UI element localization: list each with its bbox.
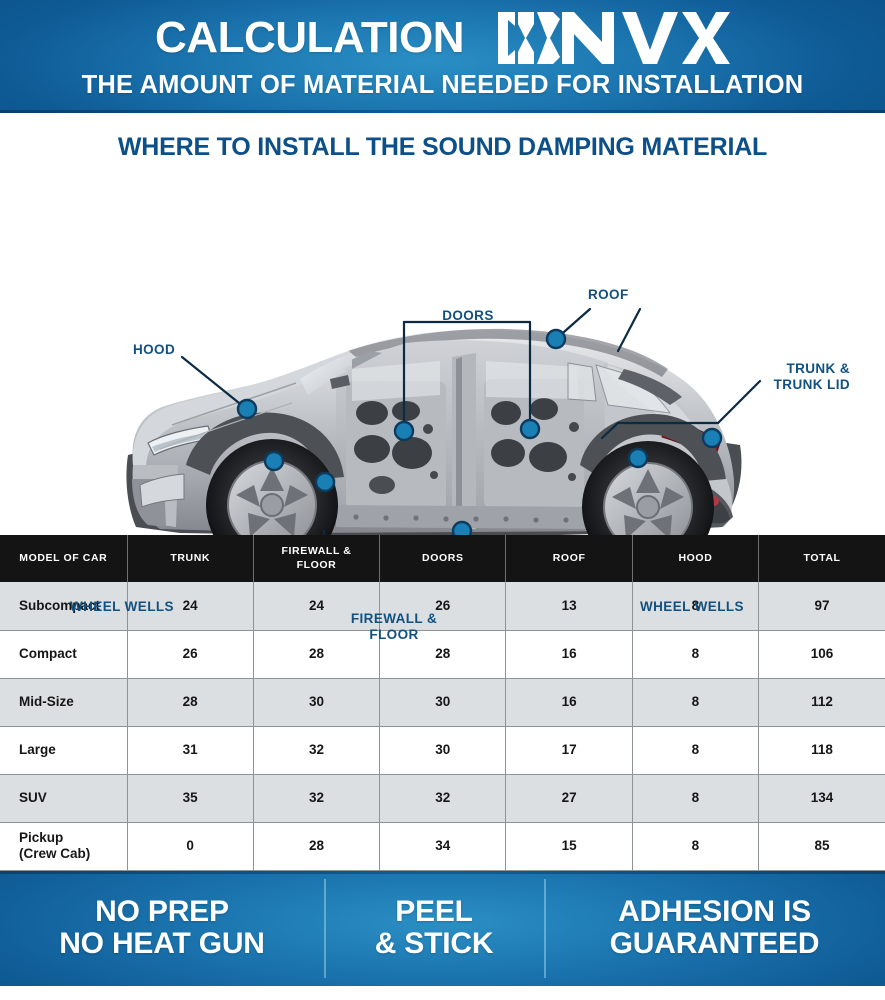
cell-doors: 32	[380, 774, 506, 822]
nvx-logo	[498, 12, 730, 64]
cell-firewall: 32	[253, 774, 379, 822]
col-header-total: TOTAL	[759, 535, 885, 582]
cell-model: Mid-Size	[0, 678, 127, 726]
cell-doors: 34	[380, 822, 506, 870]
cell-doors: 30	[380, 678, 506, 726]
cell-hood: 8	[632, 774, 758, 822]
col-header-roof: ROOF	[506, 535, 632, 582]
x-mark-icon	[498, 12, 560, 64]
calculation-table: MODEL OF CAR TRUNK FIREWALL & FLOOR DOOR…	[0, 535, 885, 871]
cell-trunk: 35	[127, 774, 253, 822]
cell-model: Compact	[0, 630, 127, 678]
callout-label-firewall: FIREWALL & FLOOR	[318, 611, 470, 643]
cell-total: 134	[759, 774, 885, 822]
cell-roof: 16	[506, 630, 632, 678]
calculation-table-wrapper: MODEL OF CAR TRUNK FIREWALL & FLOOR DOOR…	[0, 535, 885, 871]
cell-trunk: 28	[127, 678, 253, 726]
cell-model: Large	[0, 726, 127, 774]
cell-roof: 27	[506, 774, 632, 822]
cell-trunk: 31	[127, 726, 253, 774]
col-header-hood: HOOD	[632, 535, 758, 582]
cell-firewall: 28	[253, 822, 379, 870]
cell-hood: 8	[632, 630, 758, 678]
car-illustration: HOOD DOORS ROOF TRUNK & TRUNK LID WHEEL …	[0, 113, 885, 535]
col-header-model: MODEL OF CAR	[0, 535, 127, 582]
callout-label-roof: ROOF	[588, 287, 629, 303]
cell-total: 97	[759, 582, 885, 630]
cell-trunk: 26	[127, 630, 253, 678]
col-header-doors: DOORS	[380, 535, 506, 582]
col-header-trunk: TRUNK	[127, 535, 253, 582]
cell-hood: 8	[632, 822, 758, 870]
table-row: Large 31 32 30 17 8 118	[0, 726, 885, 774]
col-header-firewall: FIREWALL & FLOOR	[253, 535, 379, 582]
cell-hood: 8	[632, 678, 758, 726]
cell-hood: 8	[632, 726, 758, 774]
table-header-row: MODEL OF CAR TRUNK FIREWALL & FLOOR DOOR…	[0, 535, 885, 582]
header-banner: CALCULATION	[0, 0, 885, 113]
cell-model: Pickup (Crew Cab)	[0, 822, 127, 870]
cell-roof: 16	[506, 678, 632, 726]
cell-total: 112	[759, 678, 885, 726]
cell-doors: 30	[380, 726, 506, 774]
callout-label-hood: HOOD	[133, 342, 175, 358]
callout-label-trunk: TRUNK & TRUNK LID	[700, 361, 850, 393]
footer-item-peel: PEEL & STICK	[324, 871, 544, 986]
cell-total: 85	[759, 822, 885, 870]
callout-label-wheel-wells-rear: WHEEL WELLS	[640, 599, 744, 615]
footer-banner: NO PREP NO HEAT GUN PEEL & STICK ADHESIO…	[0, 871, 885, 986]
cell-firewall: 32	[253, 726, 379, 774]
cell-total: 118	[759, 726, 885, 774]
table-row: Mid-Size 28 30 30 16 8 112	[0, 678, 885, 726]
nvx-wordmark	[562, 12, 730, 64]
cell-roof: 17	[506, 726, 632, 774]
callout-label-wheel-wells-front: WHEEL WELLS	[70, 599, 174, 615]
infographic-page: CALCULATION	[0, 0, 885, 1000]
cell-roof: 13	[506, 582, 632, 630]
cell-model: SUV	[0, 774, 127, 822]
header-top-row: CALCULATION	[0, 0, 885, 64]
diagram-section: WHERE TO INSTALL THE SOUND DAMPING MATER…	[0, 113, 885, 535]
page-title: CALCULATION	[155, 16, 464, 60]
cell-total: 106	[759, 630, 885, 678]
table-row: SUV 35 32 32 27 8 134	[0, 774, 885, 822]
table-row: Pickup (Crew Cab) 0 28 34 15 8 85	[0, 822, 885, 870]
header-subtitle: THE AMOUNT OF MATERIAL NEEDED FOR INSTAL…	[0, 71, 885, 100]
callout-label-doors: DOORS	[398, 308, 538, 324]
cell-roof: 15	[506, 822, 632, 870]
cell-firewall: 30	[253, 678, 379, 726]
footer-item-adhesion: ADHESION IS GUARANTEED	[544, 871, 885, 986]
cell-trunk: 0	[127, 822, 253, 870]
footer-item-no-prep: NO PREP NO HEAT GUN	[0, 871, 324, 986]
